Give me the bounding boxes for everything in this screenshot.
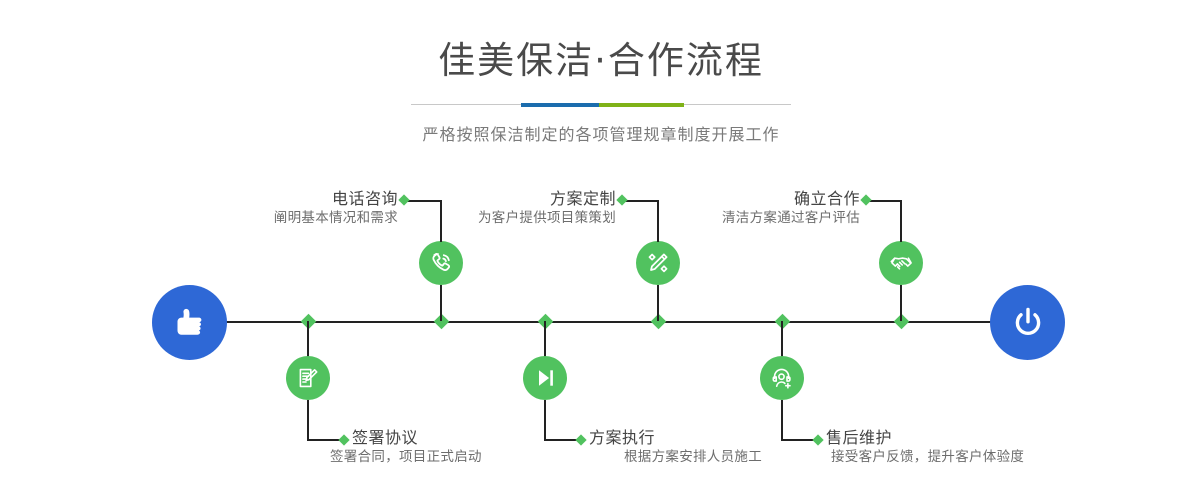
connector-vertical-3a [900, 285, 902, 321]
timeline-end-endpoint[interactable] [990, 285, 1065, 360]
headset-support-icon [769, 365, 795, 391]
step-node-pencil-design[interactable] [636, 241, 680, 285]
step-label-pencil-design: 方案定制 为客户提供项目策策划 [380, 189, 616, 228]
label-marker-5 [575, 434, 586, 445]
step-title: 确立合作 [620, 189, 860, 209]
label-marker-6 [812, 434, 823, 445]
step-node-headset-support[interactable] [760, 356, 804, 400]
connector-horizontal-3 [866, 200, 902, 202]
process-timeline: 电话咨询 阐明基本情况和需求 方案定制 为客户提供项目策策划 [0, 0, 1202, 502]
connector-vertical-5b [544, 400, 546, 440]
phone-call-icon [428, 250, 454, 276]
step-label-headset-support: 售后维护 接受客户反馈，提升客户体验度 [826, 428, 1024, 467]
step-label-play-next: 方案执行 根据方案安排人员施工 [589, 428, 762, 467]
connector-vertical-6a [781, 321, 783, 357]
step-title: 签署协议 [352, 428, 482, 448]
connector-vertical-6b [781, 400, 783, 440]
step-desc: 阐明基本情况和需求 [160, 209, 398, 228]
pencil-design-icon [645, 250, 671, 276]
pointing-hand-icon [170, 303, 210, 343]
play-next-icon [532, 365, 558, 391]
timeline-start-endpoint[interactable] [152, 285, 227, 360]
step-node-phone-call[interactable] [419, 241, 463, 285]
connector-vertical-1a [440, 285, 442, 321]
step-node-handshake[interactable] [879, 241, 923, 285]
step-title: 电话咨询 [160, 189, 398, 209]
step-title: 方案执行 [589, 428, 762, 448]
step-label-handshake: 确立合作 清洁方案通过客户评估 [620, 189, 860, 228]
step-label-phone-call: 电话咨询 阐明基本情况和需求 [160, 189, 398, 228]
step-desc: 为客户提供项目策策划 [380, 209, 616, 228]
document-sign-icon [295, 365, 321, 391]
connector-vertical-4a [307, 321, 309, 357]
step-label-document-sign: 签署协议 签署合同，项目正式启动 [352, 428, 482, 467]
handshake-icon [888, 250, 915, 277]
step-desc: 接受客户反馈，提升客户体验度 [831, 448, 1024, 467]
connector-vertical-3b [900, 200, 902, 242]
step-node-play-next[interactable] [523, 356, 567, 400]
connector-vertical-5a [544, 321, 546, 357]
step-title: 售后维护 [826, 428, 1024, 448]
step-desc: 签署合同，项目正式启动 [330, 448, 482, 467]
step-node-document-sign[interactable] [286, 356, 330, 400]
label-marker-4 [338, 434, 349, 445]
step-title: 方案定制 [380, 189, 616, 209]
step-desc: 根据方案安排人员施工 [624, 448, 762, 467]
connector-vertical-4b [307, 400, 309, 440]
label-marker-3 [860, 194, 871, 205]
step-desc: 清洁方案通过客户评估 [620, 209, 860, 228]
power-icon [1008, 303, 1048, 343]
connector-vertical-2a [657, 285, 659, 321]
